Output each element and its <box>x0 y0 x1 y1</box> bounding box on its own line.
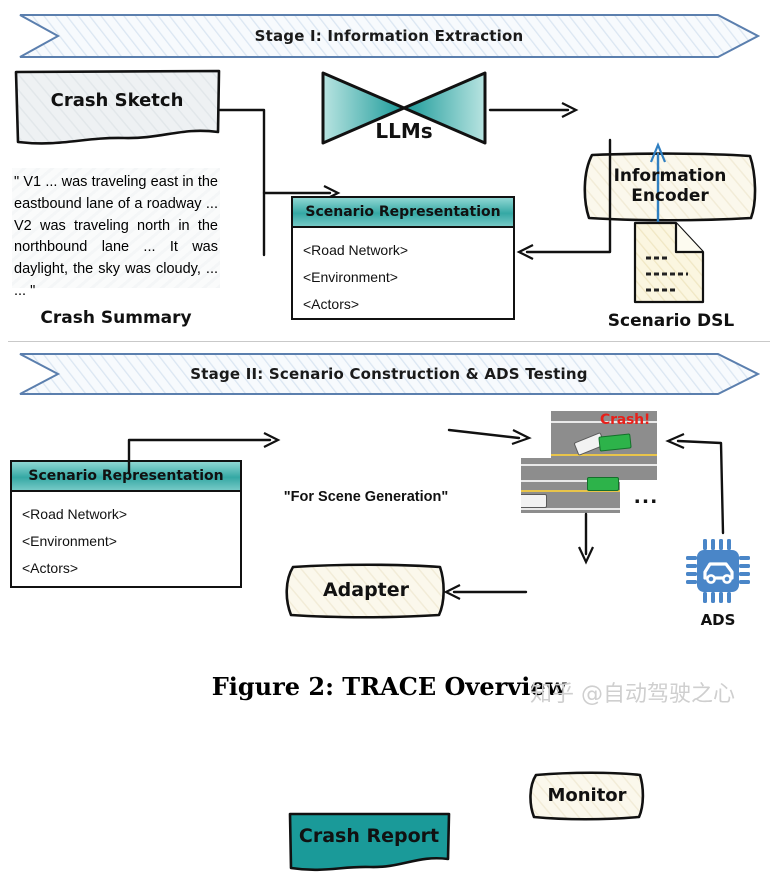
crash-report-box: Crash Report <box>286 811 452 873</box>
arrow-ads-to-simulation <box>660 425 750 535</box>
adapter-text: Adapter <box>323 580 409 602</box>
stage1-banner: Stage I: Information Extraction <box>18 13 760 59</box>
information-encoder-box: Information Encoder <box>580 152 760 222</box>
crash-summary-text: " V1 ... was traveling east in the eastb… <box>14 172 218 303</box>
stage2-banner: Stage II: Scenario Construction & ADS Te… <box>18 352 760 396</box>
scenario-dsl-icon <box>632 221 708 305</box>
scenario-row: <Road Network> <box>301 237 505 264</box>
information-encoder-line1: Information <box>614 167 727 187</box>
monitor-box: Monitor <box>527 772 647 820</box>
crash-report-text: Crash Report <box>299 825 439 847</box>
watermark: 知乎 @自动驾驶之心 <box>530 676 735 708</box>
scenario-row: <Road Network> <box>20 501 232 528</box>
llms-icon: LLMs <box>318 69 490 147</box>
crash-label: Crash! <box>600 412 650 428</box>
lane-line <box>521 464 657 466</box>
crash-sketch-text: Crash Sketch <box>51 90 184 111</box>
scenario-row: <Environment> <box>20 528 232 555</box>
monitor-label: Monitor <box>527 772 647 820</box>
scenario-row: <Actors> <box>20 555 232 582</box>
crash-summary-caption: Crash Summary <box>10 308 222 328</box>
crash-sketch-label: Crash Sketch <box>12 68 222 148</box>
information-encoder-label: Information Encoder <box>580 152 760 222</box>
scenario-row: <Environment> <box>301 264 505 291</box>
scenario-representation-body-2: <Road Network> <Environment> <Actors> <box>12 492 240 590</box>
adapter-label: Adapter <box>283 564 449 618</box>
lane-line-center <box>551 454 657 456</box>
scenario-representation-box-1: Scenario Representation <Road Network> <… <box>291 196 515 320</box>
car-green-collided <box>598 433 631 451</box>
car-green-driving <box>587 477 619 491</box>
arrow-simulation-to-monitor <box>572 514 602 566</box>
car-white-driving <box>521 494 547 508</box>
stage1-banner-label: Stage I: Information Extraction <box>18 13 760 59</box>
arrow-llms-to-encoder <box>490 96 582 126</box>
llms-label: LLMs <box>318 119 490 143</box>
ads-chip-icon <box>683 536 753 606</box>
arrow-monitor-to-crash-report <box>440 580 532 610</box>
scene-generation-caption: "For Scene Generation" <box>248 489 484 505</box>
stage2-banner-label: Stage II: Scenario Construction & ADS Te… <box>18 352 760 396</box>
information-encoder-line2: Encoder <box>631 187 709 207</box>
ads-label: ADS <box>663 611 773 629</box>
stage-divider <box>8 341 770 342</box>
crash-sketch-box: Crash Sketch <box>12 68 222 148</box>
arrow-scenario-to-adapter <box>120 430 290 480</box>
scenario-row: <Actors> <box>301 291 505 318</box>
scenario-representation-header-1: Scenario Representation <box>293 198 513 228</box>
adapter-box: Adapter <box>283 564 449 618</box>
scenario-dsl-label: Scenario DSL <box>596 311 746 331</box>
monitor-text: Monitor <box>547 786 626 807</box>
scenario-representation-body-1: <Road Network> <Environment> <Actors> <box>293 228 513 326</box>
arrow-adapter-to-simulation <box>449 424 539 454</box>
figure-canvas: Stage I: Information Extraction Crash Sk… <box>0 0 778 720</box>
crash-report-label: Crash Report <box>286 811 452 873</box>
